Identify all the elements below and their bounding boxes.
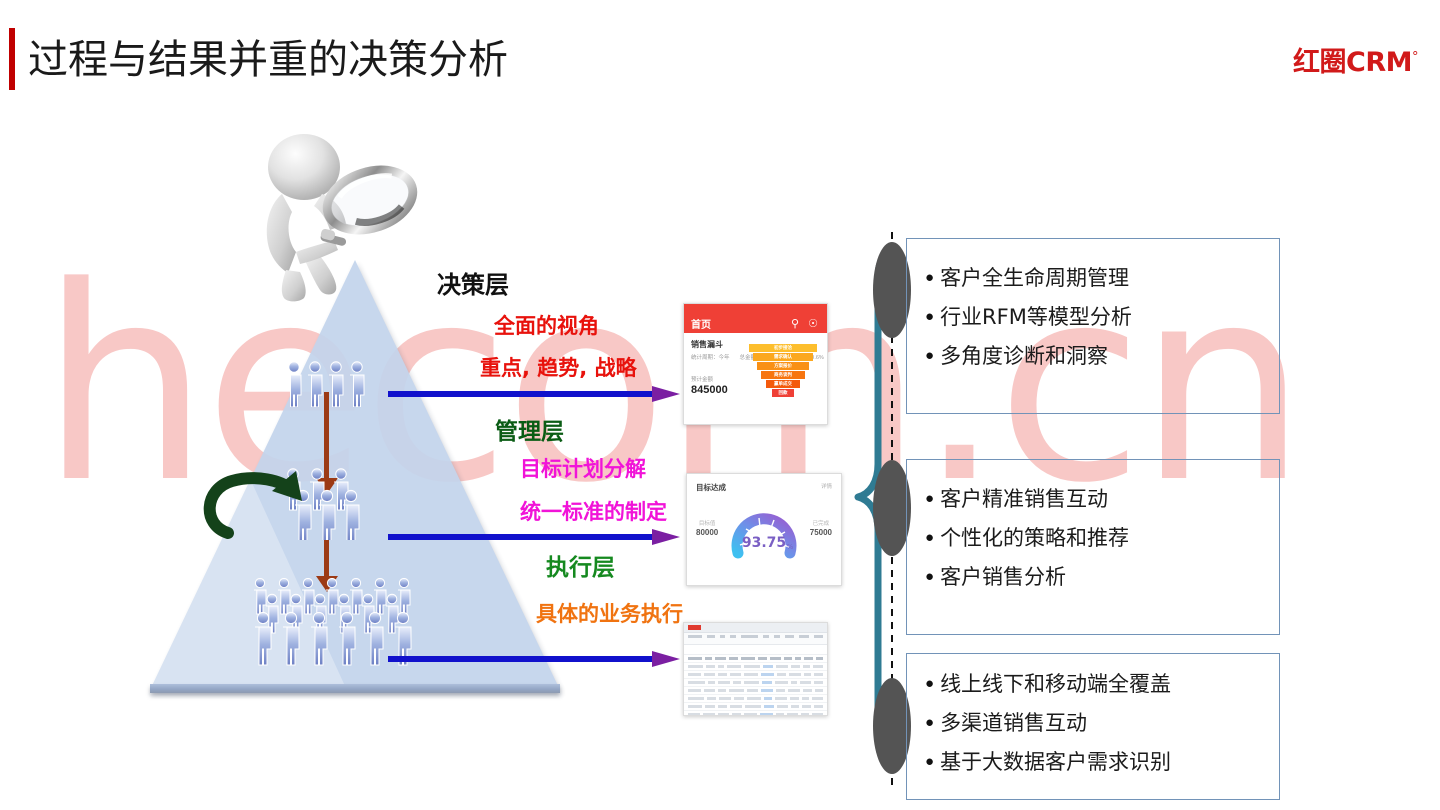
gauge-target-label: 目标值 <box>696 519 718 527</box>
gauge-card-title: 目标达成 <box>696 482 726 493</box>
bullet-icon: ● <box>925 749 934 775</box>
tier-label-management: 管理层 <box>495 412 564 446</box>
tier-line-decision-1: 全面的视角 <box>494 310 599 340</box>
arrow-execution-to-screen <box>388 651 680 667</box>
feature-text: 客户销售分析 <box>940 564 1066 590</box>
bullet-icon: ● <box>925 343 934 369</box>
feature-text: 行业RFM等模型分析 <box>940 304 1132 330</box>
tier-line-execution-1: 具体的业务执行 <box>536 598 683 628</box>
bullet-icon: ● <box>925 486 934 512</box>
feature-text: 多渠道销售互动 <box>940 710 1087 736</box>
funnel-stage-1: 需求确认 <box>753 353 813 361</box>
table-row[interactable] <box>684 695 827 703</box>
list-item: ● 客户精准销售互动 <box>925 486 1279 512</box>
tier-label-decision: 决策层 <box>437 265 509 300</box>
funnel-stage-4: 赢单成交 <box>766 380 800 388</box>
phone-status-bar <box>684 304 827 313</box>
analyst-figure-with-magnifier <box>230 132 430 312</box>
desktop-menu-bar[interactable] <box>684 633 827 645</box>
tier-line-management-2: 统一标准的制定 <box>520 496 667 526</box>
desktop-data-table[interactable] <box>684 655 827 716</box>
pyramid-base <box>150 684 560 693</box>
gauge-unit: % <box>787 543 794 551</box>
bullet-icon: ● <box>925 265 934 291</box>
tier-label-execution: 执行层 <box>546 548 615 582</box>
brand-logo-superscript: ° <box>1412 50 1418 65</box>
title-accent-bar <box>9 28 15 90</box>
table-row[interactable] <box>684 703 827 711</box>
feature-box-execution: ● 线上线下和移动端全覆盖 ● 多渠道销售互动 ● 基于大数据客户需求识别 <box>906 653 1280 800</box>
table-row[interactable] <box>684 663 827 671</box>
bullet-icon: ● <box>925 525 934 551</box>
phone-nav-title: 首页 <box>691 316 711 331</box>
table-row[interactable] <box>684 679 827 687</box>
list-item: ● 多渠道销售互动 <box>925 710 1279 736</box>
feature-text: 线上线下和移动端全覆盖 <box>940 671 1171 697</box>
feature-box-decision: ● 客户全生命周期管理 ● 行业RFM等模型分析 ● 多角度诊断和洞察 <box>906 238 1280 414</box>
feature-box-management: ● 客户精准销售互动 ● 个性化的策略和推荐 ● 客户销售分析 <box>906 459 1280 635</box>
table-header-row <box>684 655 827 663</box>
table-row[interactable] <box>684 687 827 695</box>
people-group-decision <box>283 355 371 407</box>
brand-logo-text: 红圈CRM <box>1293 47 1412 78</box>
gauge-value: 93.75 <box>742 535 786 551</box>
search-icon[interactable]: ⚲ <box>791 317 799 330</box>
gauge-chart: 93.75 % <box>728 497 800 559</box>
arrow-management-to-screen <box>388 529 680 545</box>
gauge-card-more[interactable]: 详情 <box>821 482 832 493</box>
gauge-card-header: 目标达成 详情 <box>696 482 832 493</box>
feature-text: 个性化的策略和推荐 <box>940 525 1129 551</box>
list-item: ● 线上线下和移动端全覆盖 <box>925 671 1279 697</box>
desktop-top-bar <box>684 623 827 633</box>
list-item: ● 客户销售分析 <box>925 564 1279 590</box>
funnel-chart: 初步接洽 需求确认 方案报价 商务谈判 赢单成交 回款 <box>749 344 817 398</box>
tier-line-decision-2: 重点, 趋势, 战略 <box>480 352 637 382</box>
funnel-stage-0: 初步接洽 <box>749 344 817 352</box>
funnel-stage-5: 回款 <box>772 389 794 397</box>
bullet-icon: ● <box>925 304 934 330</box>
funnel-meta-0: 统计周期：今年 <box>691 353 730 361</box>
list-item: ● 客户全生命周期管理 <box>925 265 1279 291</box>
list-item: ● 多角度诊断和洞察 <box>925 343 1279 369</box>
gauge-target-stat: 目标值 80000 <box>696 519 718 537</box>
table-row[interactable] <box>684 711 827 716</box>
feature-text: 客户全生命周期管理 <box>940 265 1129 291</box>
tier-line-management-1: 目标计划分解 <box>520 453 646 483</box>
screenshot-mobile-gauge[interactable]: 目标达成 详情 目标值 80000 <box>686 473 842 586</box>
bullet-icon: ● <box>925 564 934 590</box>
slide-canvas: hecom.cn 过程与结果并重的决策分析 红圈CRM° <box>0 0 1440 810</box>
brand-logo: 红圈CRM° <box>1293 43 1418 78</box>
cycle-arrow-icon <box>198 455 308 550</box>
funnel-stage-2: 方案报价 <box>757 362 809 370</box>
page-title: 过程与结果并重的决策分析 <box>28 36 508 84</box>
bullet-icon: ● <box>925 710 934 736</box>
arrow-decision-to-screen <box>388 386 680 402</box>
bullet-icon: ● <box>925 671 934 697</box>
list-item: ● 行业RFM等模型分析 <box>925 304 1279 330</box>
funnel-stage-3: 商务谈判 <box>761 371 805 379</box>
desktop-sub-bar <box>684 645 827 655</box>
gauge-target-value: 80000 <box>696 528 718 537</box>
bell-icon[interactable]: ☉ <box>808 317 818 330</box>
table-row[interactable] <box>684 671 827 679</box>
feature-text: 多角度诊断和洞察 <box>940 343 1108 369</box>
phone-nav-bar: 首页 ⚲ ☉ <box>684 313 827 333</box>
list-item: ● 基于大数据客户需求识别 <box>925 749 1279 775</box>
feature-text: 客户精准销售互动 <box>940 486 1108 512</box>
gauge-done-value: 75000 <box>810 528 832 537</box>
list-item: ● 个性化的策略和推荐 <box>925 525 1279 551</box>
screenshot-desktop-table[interactable] <box>683 622 828 716</box>
feature-text: 基于大数据客户需求识别 <box>940 749 1171 775</box>
gauge-done-label: 已完成 <box>810 519 832 527</box>
desktop-brand-logo <box>688 625 701 630</box>
screenshot-mobile-funnel[interactable]: 首页 ⚲ ☉ 销售漏斗 统计周期：今年 总金额：¥845万 赢单率：9.6% 预… <box>683 303 828 425</box>
gauge-done-stat: 已完成 75000 <box>810 519 832 537</box>
gauge-row: 目标值 80000 93.75 % <box>696 497 832 559</box>
